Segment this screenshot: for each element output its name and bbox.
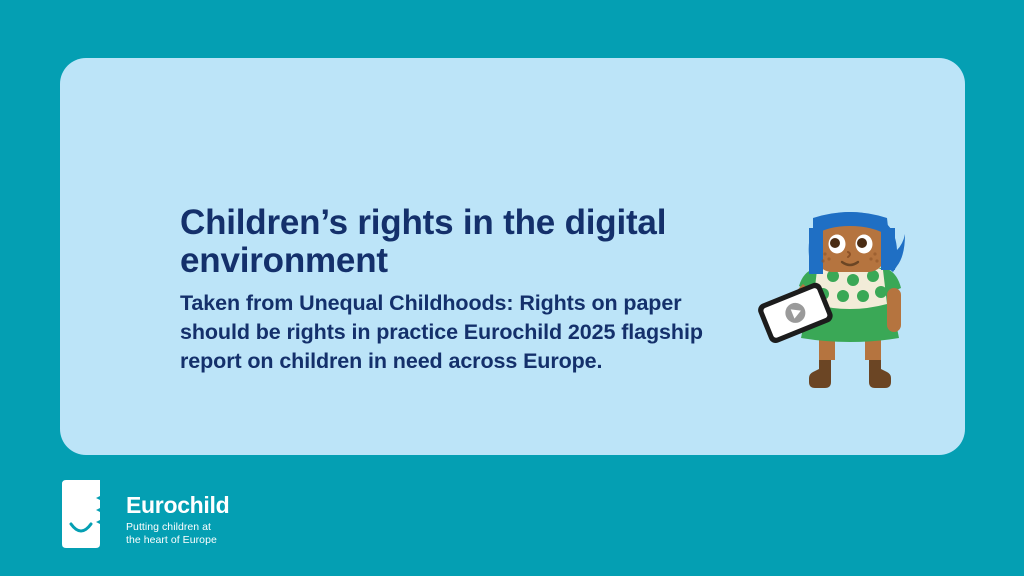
page-title: Children’s rights in the digital environ… — [180, 204, 725, 280]
content-card: Children’s rights in the digital environ… — [60, 58, 965, 455]
hair-side-right-icon — [881, 228, 895, 270]
text-block: Children’s rights in the digital environ… — [180, 204, 725, 376]
arm-right-icon — [887, 288, 901, 332]
slide-canvas: Children’s rights in the digital environ… — [0, 0, 1024, 576]
logo-wordmark: Eurochild — [126, 494, 229, 517]
subtitle-text: Taken from Unequal Childhoods: Rights on… — [180, 289, 725, 376]
child-with-phone-illustration — [753, 204, 943, 404]
hair-side-left-icon — [809, 228, 823, 274]
logo-tagline: Putting children at the heart of Europe — [126, 521, 229, 547]
eurochild-logo-mark-icon — [60, 478, 114, 550]
eurochild-logo: Eurochild Putting children at the heart … — [60, 478, 229, 550]
